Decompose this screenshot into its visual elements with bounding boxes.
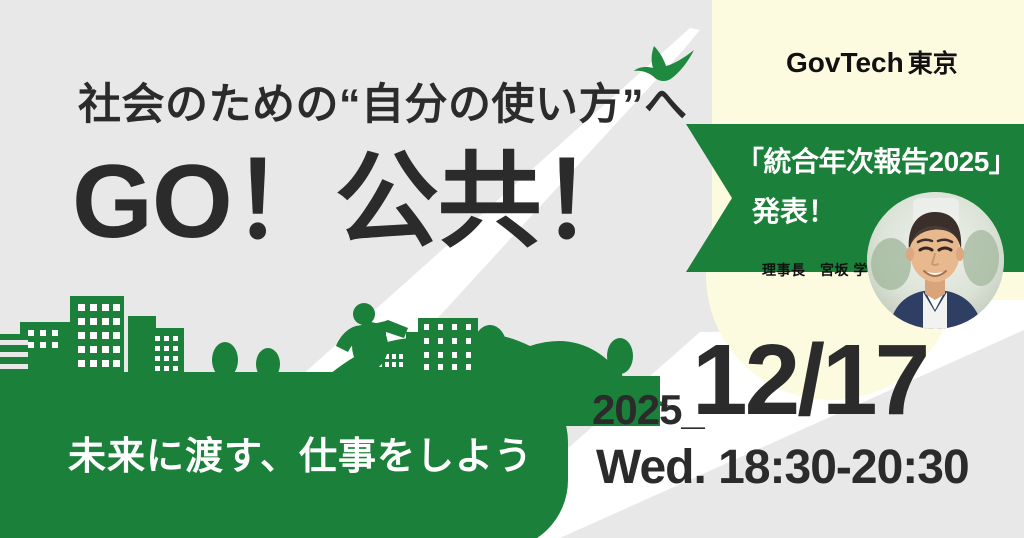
speaker-avatar [867,192,1004,329]
event-banner: 社会のための“自分の使い方”へ GO！公共！ [0,0,1024,538]
ribbon-line-2: 発表！ [752,190,836,230]
event-year: 2025_ [592,386,704,434]
tagline-text: 未来に渡す、仕事をしよう [68,425,533,480]
ribbon-line-1: 「統合年次報告2025」 [736,140,1016,180]
event-weekday-time: Wed. 18:30-20:30 [596,440,969,495]
brand-name-jp: 東京 [908,50,958,78]
speaker-name: 理事長 宮坂 学 [762,260,868,280]
headline-title: GO！公共！ [72,148,644,257]
brand-logo: GovTech東京 [786,44,958,80]
headline-kicker: 社会のための“自分の使い方”へ [78,70,688,132]
brand-name-en: GovTech [786,47,904,78]
event-month-day: 12/17 [692,330,927,430]
